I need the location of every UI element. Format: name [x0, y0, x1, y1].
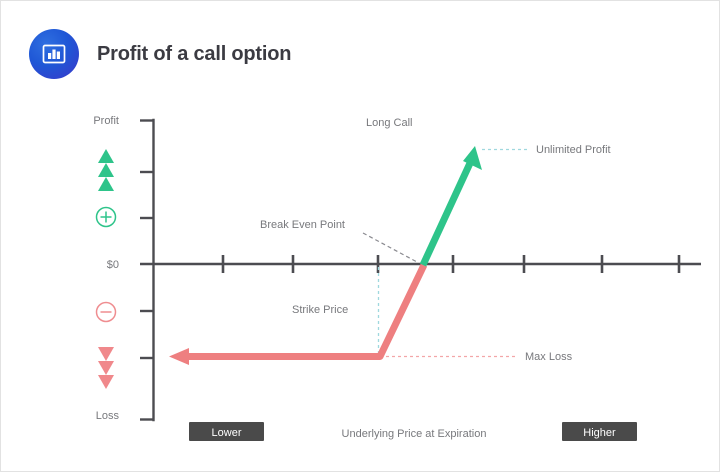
- strike-price-label: Strike Price: [292, 304, 348, 316]
- y-axis-label-profit: Profit: [93, 115, 119, 127]
- chart-plot-area: Profit $0 Loss: [1, 1, 720, 472]
- max-loss-label: Max Loss: [525, 351, 573, 363]
- y-axis-ticks: [140, 121, 154, 420]
- y-axis-label-loss: Loss: [96, 410, 120, 422]
- y-axis-label-zero: $0: [107, 259, 119, 271]
- higher-badge: Higher: [562, 422, 637, 441]
- circled-minus-icon: [97, 303, 116, 322]
- lower-badge: Lower: [189, 422, 264, 441]
- break-even-label: Break Even Point: [260, 219, 345, 231]
- lower-badge-text: Lower: [212, 427, 242, 439]
- higher-badge-text: Higher: [583, 427, 616, 439]
- triple-up-arrow-icon: [98, 149, 114, 191]
- long-call-label: Long Call: [366, 117, 412, 129]
- unlimited-profit-label: Unlimited Profit: [536, 144, 611, 156]
- profit-payoff-line: [423, 146, 482, 265]
- chart-page: Profit of a call option: [0, 0, 720, 472]
- x-axis-caption: Underlying Price at Expiration: [342, 428, 487, 440]
- circled-plus-icon: [97, 208, 116, 227]
- break-even-leader-line: [363, 233, 417, 262]
- triple-down-arrow-icon: [98, 347, 114, 389]
